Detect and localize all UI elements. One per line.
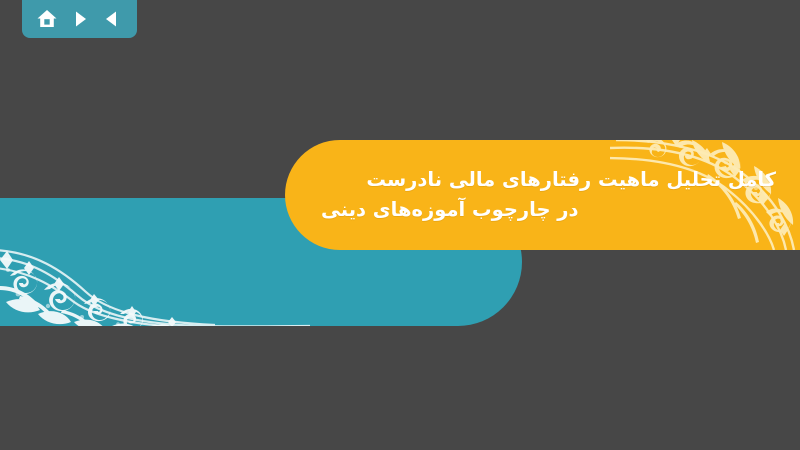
back-arrow-icon: [102, 9, 122, 29]
forward-arrow-icon: [70, 9, 90, 29]
presentation-slide: کامل تحلیل ماهیت رفتارهای مالی نادرست در…: [0, 0, 800, 450]
title-line-1: کامل تحلیل ماهیت رفتارهای مالی نادرست: [366, 165, 776, 195]
navigation-toolbar[interactable]: [22, 0, 137, 38]
next-slide-button[interactable]: [65, 4, 95, 34]
previous-slide-button[interactable]: [97, 4, 127, 34]
teal-arabesque-ornament-icon: [0, 198, 310, 326]
home-slide-button[interactable]: [32, 4, 62, 34]
slide-title: کامل تحلیل ماهیت رفتارهای مالی نادرست در…: [285, 140, 800, 250]
title-banner: کامل تحلیل ماهیت رفتارهای مالی نادرست در…: [285, 140, 800, 250]
title-line-2: در چارچوب آموزه‌های دینی: [315, 195, 579, 225]
home-icon: [36, 8, 58, 30]
